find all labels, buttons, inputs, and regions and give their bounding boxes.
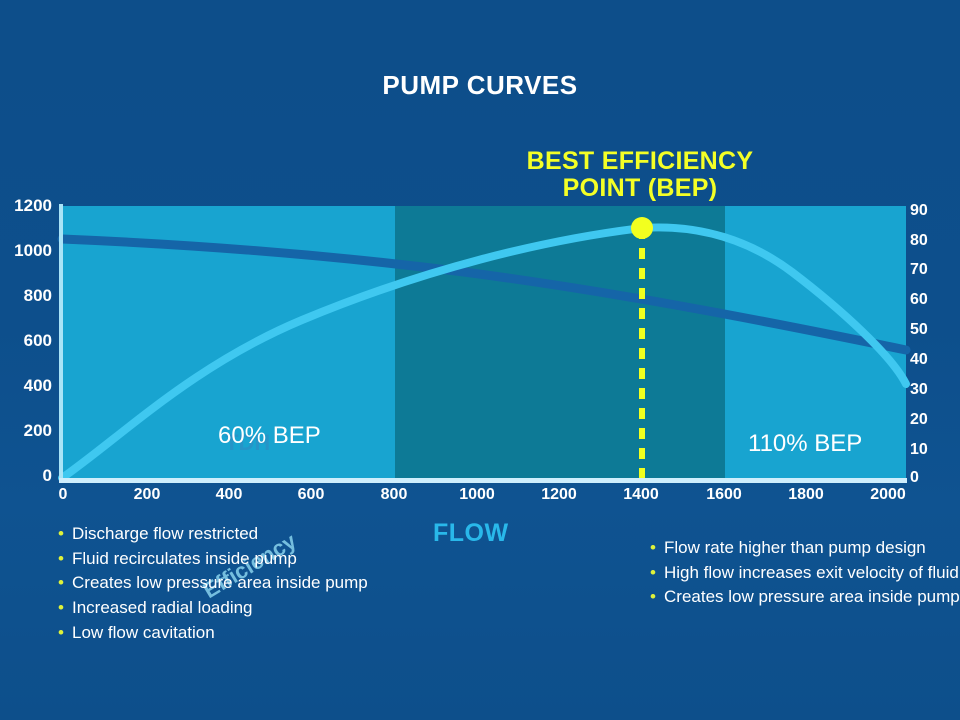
high-flow-effects-list: Flow rate higher than pump design High f… [650,536,960,610]
y2-tick-80: 80 [910,232,928,250]
zone-label-60-bep: 60% BEP [218,422,321,450]
y2-tick-60: 60 [910,291,928,309]
y2-tick-40: 40 [910,351,928,369]
list-item: Creates low pressure area inside pump [650,585,960,610]
y2-tick-20: 20 [910,411,928,429]
x-tick-600: 600 [298,486,325,504]
list-item: Discharge flow restricted [58,522,528,547]
y-tick-1200: 1200 [14,196,52,216]
y-tick-600: 600 [24,331,52,351]
list-item: Creates low pressure area inside pump [58,571,528,596]
y2-tick-90: 90 [910,202,928,220]
x-tick-1800: 1800 [788,486,824,504]
x-axis-line [59,478,907,483]
y-tick-800: 800 [24,286,52,306]
list-item: Flow rate higher than pump design [650,536,960,561]
y-axis-tick-labels: 1200 1000 800 600 400 200 0 [0,200,56,484]
zone-label-110-bep: 110% BEP [748,430,862,458]
y-axis-line [59,204,63,480]
x-tick-1600: 1600 [706,486,742,504]
y-axis-title: TDH [0,211,2,260]
y2-tick-10: 10 [910,441,928,459]
x-tick-1200: 1200 [541,486,577,504]
low-flow-effects-list: Discharge flow restricted Fluid recircul… [58,522,528,645]
y-tick-400: 400 [24,376,52,396]
list-item: High flow increases exit velocity of flu… [650,561,960,586]
y-tick-0: 0 [43,466,52,486]
list-item: Low flow cavitation [58,621,528,646]
x-tick-1000: 1000 [459,486,495,504]
list-item: Increased radial loading [58,596,528,621]
low-flow-effects-items: Discharge flow restricted Fluid recircul… [58,522,528,645]
list-item: Fluid recirculates inside pump [58,547,528,572]
high-flow-effects-items: Flow rate higher than pump design High f… [650,536,960,610]
y-tick-200: 200 [24,421,52,441]
x-tick-800: 800 [381,486,408,504]
x-tick-200: 200 [134,486,161,504]
x-tick-1400: 1400 [623,486,659,504]
x-tick-400: 400 [216,486,243,504]
y2-tick-70: 70 [910,261,928,279]
x-axis-tick-labels: 0 200 400 600 800 1000 1200 1400 1600 18… [0,486,960,512]
y2-tick-30: 30 [910,381,928,399]
y2-tick-0: 0 [910,469,919,487]
y2-tick-50: 50 [910,321,928,339]
bep-point-marker [631,217,653,239]
y2-axis-tick-labels: 90 80 70 60 50 40 30 20 10 0 [910,200,950,484]
y-tick-1000: 1000 [14,241,52,261]
x-tick-2000: 2000 [870,486,906,504]
x-tick-0: 0 [59,486,68,504]
